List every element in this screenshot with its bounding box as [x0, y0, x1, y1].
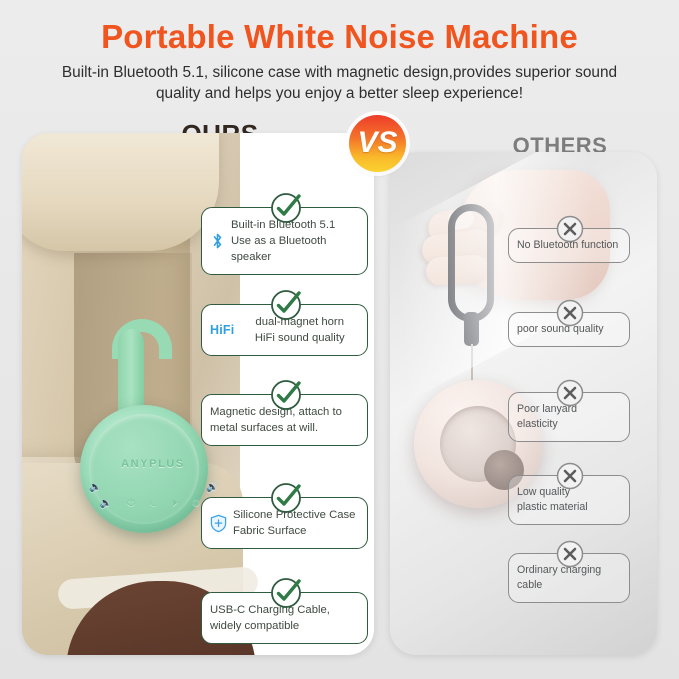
ours-feature-line: widely compatible	[210, 618, 359, 634]
others-drawback-line: elasticity	[517, 417, 621, 432]
competitor-lanyard	[448, 204, 494, 322]
ours-feature-card: Magnetic design, attach to metal surface…	[201, 394, 368, 446]
ours-feature-line: Silicone Protective Case	[233, 507, 359, 523]
others-drawback-line: plastic material	[517, 500, 621, 515]
page-title: Portable White Noise Machine	[0, 18, 679, 56]
ours-feature-text: Built-in Bluetooth 5.1 Use as a Bluetoot…	[231, 217, 359, 265]
ours-feature-line: HiFi sound quality	[240, 330, 359, 346]
ours-feature-text: Magnetic design, attach to metal surface…	[210, 404, 359, 436]
others-drawback-card: Poor lanyard elasticity	[508, 392, 630, 442]
others-drawback-card: Ordinary charging cable	[508, 553, 630, 603]
others-drawback-line: cable	[517, 578, 621, 593]
infographic-root: Portable White Noise Machine Built-in Bl…	[0, 0, 679, 679]
ours-feature-card: HiFi dual-magnet horn HiFi sound quality	[201, 304, 368, 356]
others-drawback-line: poor sound quality	[517, 322, 621, 337]
others-drawback-card: poor sound quality	[508, 312, 630, 347]
vs-badge-label: VS	[349, 115, 406, 172]
others-drawback-line: Poor lanyard	[517, 402, 621, 417]
speaker-control-icons: 🔉 ⏻ ⏾ ⏵ ◍	[89, 498, 217, 509]
lanyard-connector	[464, 312, 479, 346]
ours-feature-line: Magnetic design, attach to	[210, 404, 359, 420]
others-drawback-line: Low quality	[517, 485, 621, 500]
shield-plus-icon	[210, 514, 227, 533]
others-drawback-line: Ordinary charging	[517, 563, 621, 578]
ours-feature-line: metal surfaces at will.	[210, 420, 359, 436]
ours-feature-line: USB-C Charging Cable,	[210, 602, 359, 618]
ours-feature-text: dual-magnet horn HiFi sound quality	[240, 314, 359, 346]
speaker-brand-label: ANYPLUS	[89, 458, 217, 470]
others-drawback-line: No Bluetooth function	[517, 238, 621, 253]
ours-feature-text: Silicone Protective Case Fabric Surface	[233, 507, 359, 539]
green-speaker-device: ANYPLUS 🔈 🔊 🔉 ⏻ ⏾ ⏵ ◍	[80, 405, 208, 533]
lanyard-cord	[471, 344, 473, 382]
page-subtitle: Built-in Bluetooth 5.1, silicone case wi…	[50, 62, 629, 104]
vs-badge: VS	[349, 115, 406, 172]
seat-headrest	[22, 133, 219, 251]
ours-feature-line: Use as a Bluetooth speaker	[231, 233, 359, 265]
competitor-device-ring	[440, 406, 516, 482]
ours-feature-line: Built-in Bluetooth 5.1	[231, 217, 359, 233]
ours-feature-card: USB-C Charging Cable, widely compatible	[201, 592, 368, 644]
bluetooth-icon	[210, 232, 225, 250]
ours-feature-card: Silicone Protective Case Fabric Surface	[201, 497, 368, 549]
hifi-icon: HiFi	[210, 322, 234, 338]
ours-feature-text: USB-C Charging Cable, widely compatible	[210, 602, 359, 634]
ours-feature-card: Built-in Bluetooth 5.1 Use as a Bluetoot…	[201, 207, 368, 275]
speaker-volume-icons: 🔈 🔊	[89, 482, 217, 493]
ours-feature-line: dual-magnet horn	[240, 314, 359, 330]
ours-feature-line: Fabric Surface	[233, 523, 359, 539]
others-drawback-card: Low quality plastic material	[508, 475, 630, 525]
others-drawback-card: No Bluetooth function	[508, 228, 630, 263]
speaker-face: ANYPLUS 🔈 🔊 🔉 ⏻ ⏾ ⏵ ◍	[89, 414, 199, 524]
